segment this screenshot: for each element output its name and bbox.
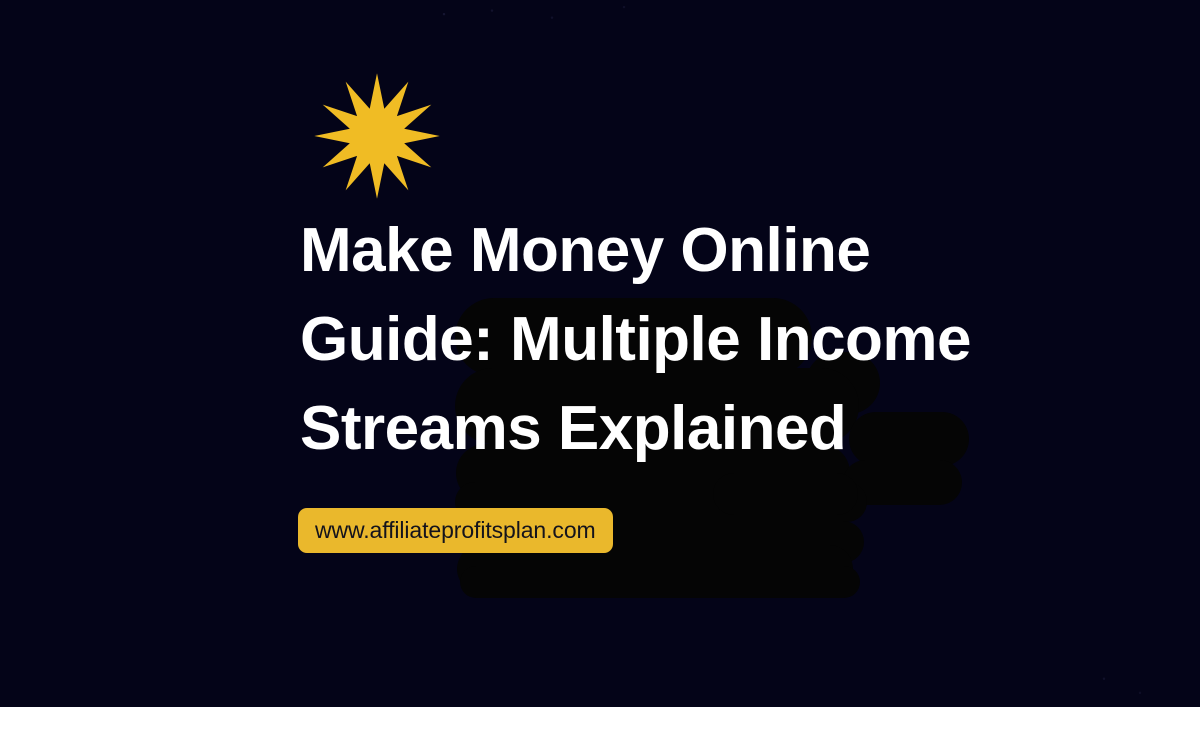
twelve-point-star-icon — [313, 72, 441, 200]
page-title: Make Money Online Guide: Multiple Income… — [300, 206, 1070, 473]
brush-stroke-blob — [460, 566, 860, 598]
website-url-badge[interactable]: www.affiliateprofitsplan.com — [298, 508, 613, 553]
bottom-white-strip — [0, 707, 1200, 740]
dark-banner: Make Money Online Guide: Multiple Income… — [0, 0, 1200, 707]
website-url-label: www.affiliateprofitsplan.com — [315, 517, 596, 544]
brush-stroke-blob — [713, 473, 858, 515]
banner-canvas: Make Money Online Guide: Multiple Income… — [0, 0, 1200, 740]
